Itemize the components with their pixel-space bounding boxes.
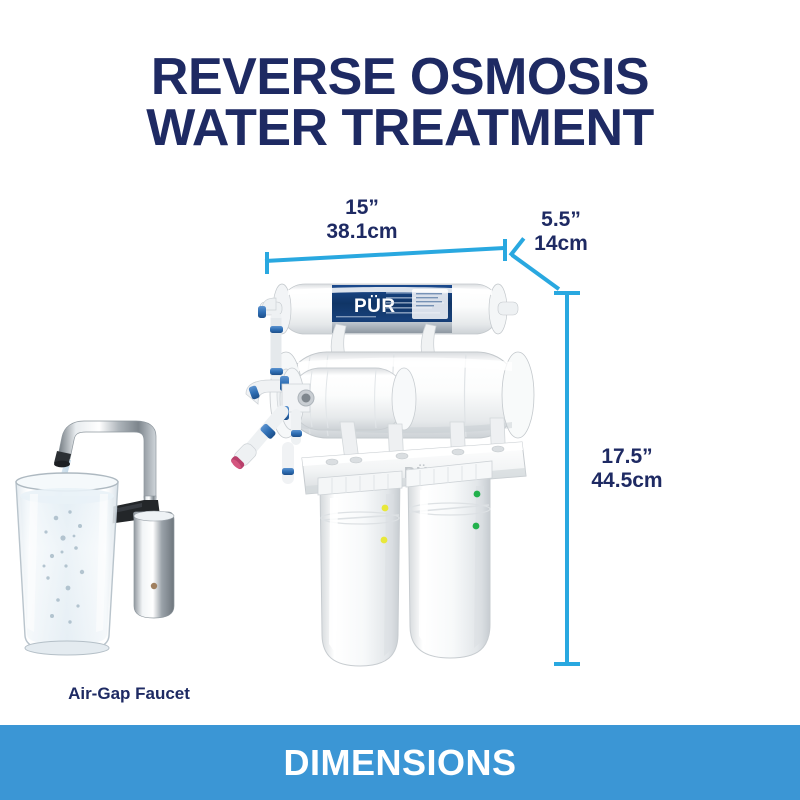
collet-ring-top [258,306,266,318]
height-inches: 17.5” [572,445,682,469]
cartridge-brand-text: PÜR [354,296,396,317]
faucet-caption: Air-Gap Faucet [0,684,258,704]
faucet-base-top [134,511,174,521]
indicator-light-left [382,505,389,512]
width-dimension-cap-left [265,252,269,274]
reverse-osmosis-unit-illustration: PÜR [236,272,546,677]
faucet-base-screw [151,583,157,589]
depth-metric: 14cm [513,232,609,256]
air-gap-faucet-illustration [8,420,248,710]
inline-cartridge: PÜR [260,284,518,334]
aerator-outlet [54,461,70,468]
depth-dimension-label: 5.5” 14cm [513,208,609,255]
collet-ring-2 [270,368,283,375]
height-dimension-label: 17.5” 44.5cm [572,445,682,492]
glass-base [25,641,109,655]
height-metric: 44.5cm [572,469,682,493]
height-dimension-line [565,291,569,666]
infographic-page: REVERSE OSMOSIS WATER TREATMENT [0,0,800,800]
indicator-light-right-lower [473,523,480,530]
collet-ring-7 [291,430,302,437]
faucet-svg [8,420,248,710]
width-metric: 38.1cm [307,220,417,244]
height-dimension-cap-top [554,291,580,295]
width-dimension-line [265,246,507,263]
height-dimension-cap-bottom [554,662,580,666]
collet-ring-1 [270,326,283,333]
ro-unit-svg: PÜR [236,272,546,677]
page-title-line-1: REVERSE OSMOSIS [0,52,800,103]
page-title-line-2: WATER TREATMENT [0,103,800,154]
dimensions-banner-label: DIMENSIONS [283,742,516,784]
indicator-light-right [474,491,481,498]
width-dimension-label: 15” 38.1cm [307,196,417,243]
indicator-light-left-lower [381,537,388,544]
filter-housing-left [318,471,402,666]
filter-housing-right [406,461,492,658]
faucet-base [134,512,175,618]
collet-ring-8 [282,468,294,475]
dimensions-banner: DIMENSIONS [0,725,800,800]
width-inches: 15” [307,196,417,220]
depth-inches: 5.5” [513,208,609,232]
page-title: REVERSE OSMOSIS WATER TREATMENT [0,52,800,154]
width-dimension-cap-right [503,239,507,261]
